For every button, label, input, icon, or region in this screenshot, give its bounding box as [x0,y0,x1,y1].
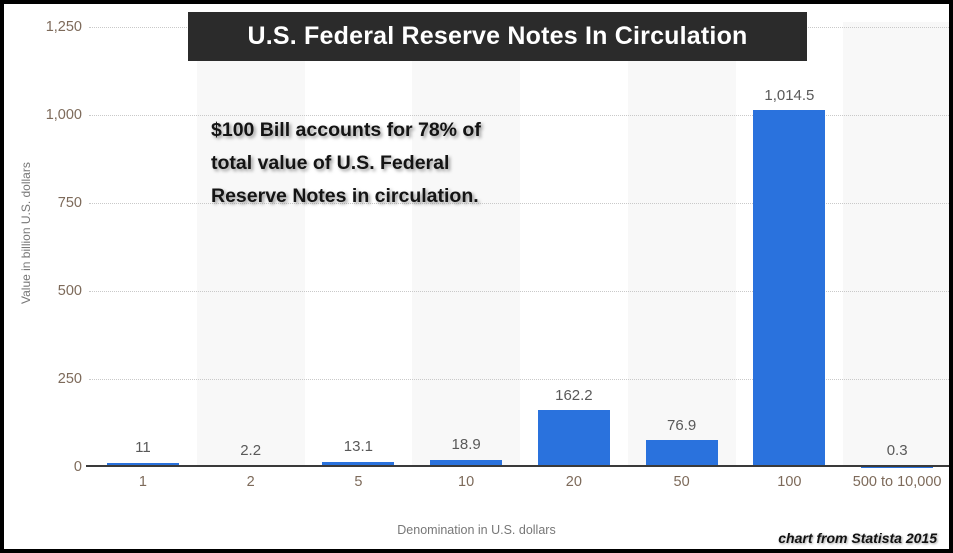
bar-value-label: 76.9 [667,417,696,434]
x-axis-line [86,465,951,467]
bar-slot: 18.9 [412,22,520,467]
bars: 11 2.2 13.1 18.9 162.2 76.9 [89,22,951,467]
bar-value-label: 1,014.5 [764,87,814,104]
source-credit: chart from Statista 2015 [778,530,937,546]
bar-slot: 13.1 [305,22,413,467]
x-tick-label-1: 1 [89,474,197,491]
x-tick-label-5: 5 [305,474,413,491]
bar-slot: 11 [89,22,197,467]
y-tick-label: 750 [12,195,82,211]
bar-slot: 1,014.5 [736,22,844,467]
x-tick-label-text: 500 to 10,000 [853,474,942,490]
x-tick-label-10: 10 [412,474,520,491]
x-axis: 1 2 5 10 20 50 100 500 to 10,000 [89,474,951,520]
plot-area: 11 2.2 13.1 18.9 162.2 76.9 [89,22,951,467]
y-tick-label: 1,250 [12,19,82,35]
annotation-line-2: total value of U.S. Federal [211,147,561,180]
bar-value-label: 0.3 [887,442,908,459]
bar-value-label: 2.2 [240,442,261,459]
chart-screenshot: Value in billion U.S. dollars 1,250 1,00… [0,0,953,553]
bar-50[interactable] [646,440,718,467]
bar-20[interactable] [538,410,610,467]
bar-slot: 0.3 [843,22,951,467]
bar-value-label: 11 [135,439,151,456]
bar-value-label: 18.9 [452,436,481,453]
x-tick-label-2: 2 [197,474,305,491]
bar-value-label: 13.1 [344,438,373,455]
annotation-line-1: $100 Bill accounts for 78% of [211,114,561,147]
bar-slot: 162.2 [520,22,628,467]
bar-slot: 2.2 [197,22,305,467]
bar-100[interactable] [753,110,825,467]
y-tick-label: 1,000 [12,107,82,123]
bar-value-label: 162.2 [555,387,593,404]
y-tick-label: 0 [12,459,82,475]
y-tick-label: 250 [12,371,82,387]
y-tick-label: 500 [12,283,82,299]
x-tick-label-500-to-10000: 500 to 10,000 [843,474,951,491]
x-tick-label-20: 20 [520,474,628,491]
x-tick-label-100: 100 [736,474,844,491]
annotation-line-3: Reserve Notes in circulation. [211,180,561,213]
bar-slot: 76.9 [628,22,736,467]
annotation-callout: $100 Bill accounts for 78% of total valu… [211,114,561,213]
y-axis: Value in billion U.S. dollars 1,250 1,00… [4,22,82,467]
x-tick-label-50: 50 [628,474,736,491]
chart-title-banner: U.S. Federal Reserve Notes In Circulatio… [188,12,807,61]
page-title: U.S. Federal Reserve Notes In Circulatio… [247,22,747,51]
